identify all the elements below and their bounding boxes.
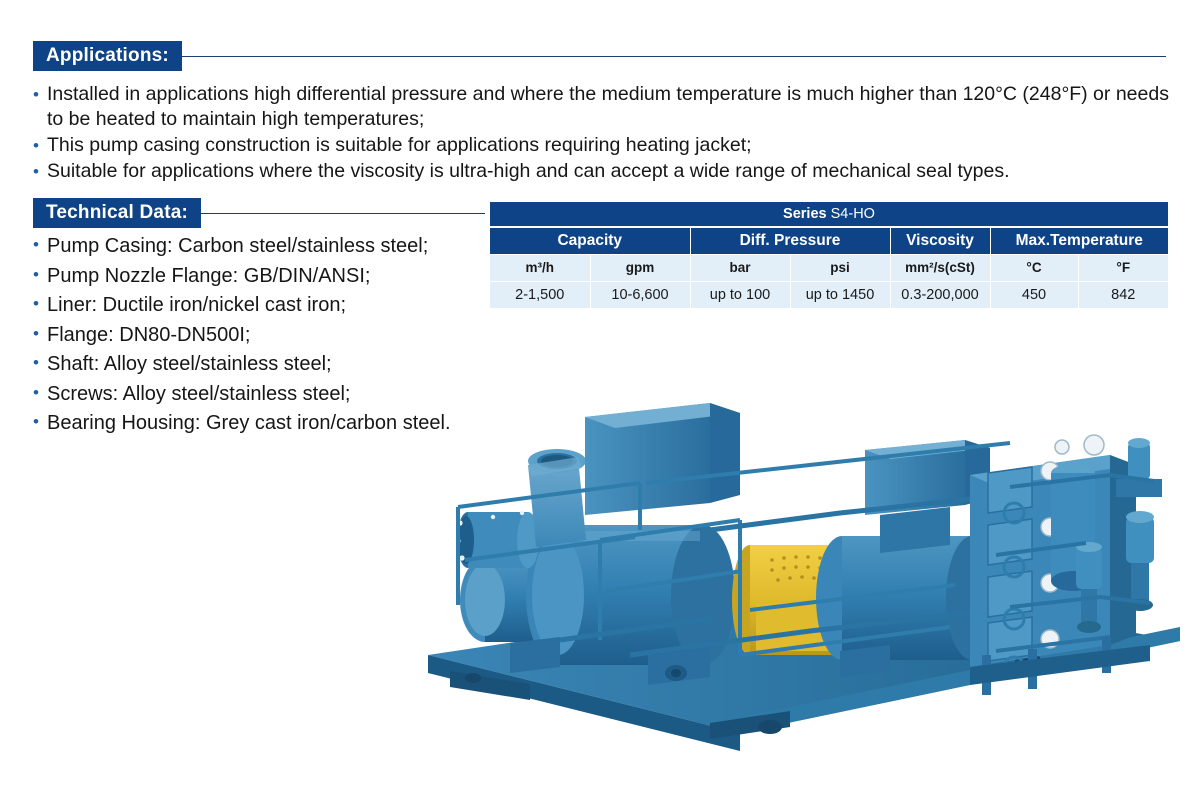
list-item: Suitable for applications where the visc… — [33, 159, 1173, 184]
value-pressure-psi: up to 1450 — [790, 281, 890, 308]
datasheet-page: Applications: Installed in applications … — [0, 0, 1200, 801]
value-temperature-fahrenheit: 842 — [1078, 281, 1168, 308]
unit-fahrenheit: °F — [1078, 254, 1168, 281]
unit-m3h: m³/h — [490, 254, 590, 281]
table-row-group-headers: Capacity Diff. Pressure Viscosity Max.Te… — [490, 227, 1168, 254]
unit-bar: bar — [690, 254, 790, 281]
technical-data-section-header: Technical Data: — [33, 198, 485, 228]
unit-mm2s-cst: mm²/s(cSt) — [890, 254, 990, 281]
list-item: Screws: Alloy steel/stainless steel; — [33, 380, 473, 410]
list-item: This pump casing construction is suitabl… — [33, 133, 1173, 158]
list-item: Installed in applications high different… — [33, 82, 1173, 132]
list-item: Pump Casing: Carbon steel/stainless stee… — [33, 232, 473, 262]
list-item: Shaft: Alloy steel/stainless steel; — [33, 350, 473, 380]
top-gauge-icons — [1055, 435, 1104, 455]
unit-celsius: °C — [990, 254, 1078, 281]
applications-bullet-list: Installed in applications high different… — [33, 82, 1173, 185]
motor-terminal-box-upper — [585, 403, 740, 515]
series-title-cell: Series S4-HO — [490, 202, 1168, 227]
column-group-capacity: Capacity — [490, 227, 690, 254]
unit-gpm: gpm — [590, 254, 690, 281]
value-pressure-bar: up to 100 — [690, 281, 790, 308]
list-item: Flange: DN80-DN500I; — [33, 321, 473, 351]
applications-section-header: Applications: — [33, 41, 1166, 71]
column-group-diff-pressure: Diff. Pressure — [690, 227, 890, 254]
table-row-series: Series S4-HO — [490, 202, 1168, 227]
value-capacity-m3h: 2-1,500 — [490, 281, 590, 308]
column-group-viscosity: Viscosity — [890, 227, 990, 254]
value-temperature-celsius: 450 — [990, 281, 1078, 308]
applications-header-rule — [181, 56, 1166, 57]
applications-heading-label: Applications: — [33, 41, 182, 71]
product-illustration-twin-screw-pump — [410, 355, 1200, 755]
technical-data-heading-label: Technical Data: — [33, 198, 201, 228]
series-label: Series — [783, 206, 827, 222]
technical-header-rule — [200, 213, 485, 214]
technical-data-bullet-list: Pump Casing: Carbon steel/stainless stee… — [33, 232, 473, 439]
table-row-values: 2-1,500 10-6,600 up to 100 up to 1450 0.… — [490, 281, 1168, 308]
list-item: Pump Nozzle Flange: GB/DIN/ANSI; — [33, 262, 473, 292]
table-row-units: m³/h gpm bar psi mm²/s(cSt) °C °F — [490, 254, 1168, 281]
list-item: Bearing Housing: Grey cast iron/carbon s… — [33, 409, 473, 439]
unit-psi: psi — [790, 254, 890, 281]
value-viscosity: 0.3-200,000 — [890, 281, 990, 308]
instrument-panel-assembly — [970, 435, 1162, 695]
specification-table: Series S4-HO Capacity Diff. Pressure Vis… — [490, 202, 1168, 308]
series-value: S4-HO — [831, 206, 875, 222]
column-group-max-temperature: Max.Temperature — [990, 227, 1168, 254]
list-item: Liner: Ductile iron/nickel cast iron; — [33, 291, 473, 321]
value-capacity-gpm: 10-6,600 — [590, 281, 690, 308]
